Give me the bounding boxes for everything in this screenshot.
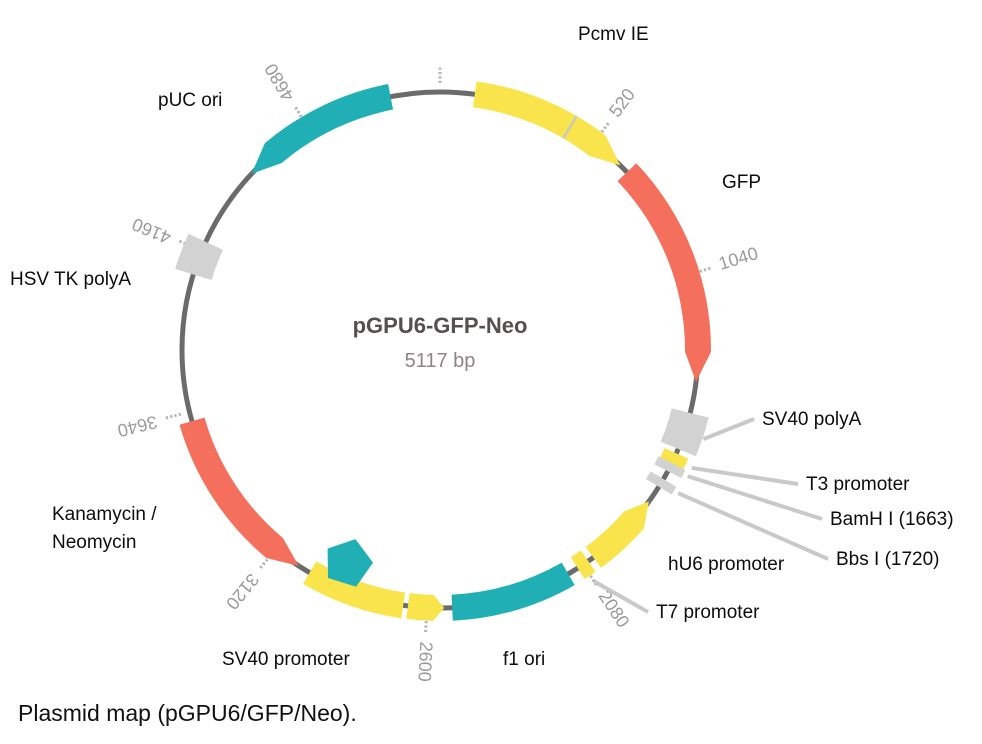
feature-label-pcmv-ie: Pcmv IE [578, 24, 649, 45]
feature-arc-gfp[interactable] [618, 163, 711, 382]
feature-label-kanamycin-neomycin: Kanamycin / [52, 504, 157, 525]
feature-arc-kanamycin-neomycin[interactable] [180, 418, 299, 566]
floating-feature-marker-pentagon[interactable] [328, 539, 373, 587]
feature-label-bbs-i-1720: Bbs I (1720) [836, 549, 940, 570]
plasmid-map-svg: 5201040208026003120364041604680 Pcmv IEG… [0, 0, 982, 744]
feature-label-bamh-i-1663: BamH I (1663) [830, 509, 954, 530]
feature-arc-bbs-i-1720[interactable] [648, 475, 674, 490]
tick-label-1040: 1040 [716, 243, 760, 274]
floating-marker-layer [328, 539, 373, 587]
plasmid-name: pGPU6-GFP-Neo [353, 313, 528, 338]
leader-line-bbs-i-1720 [678, 493, 828, 559]
feature-label-puc-ori: pUC ori [158, 90, 222, 111]
feature-arc-hsv-tk-polya[interactable] [175, 234, 223, 280]
feature-label-t3-promoter: T3 promoter [806, 474, 910, 495]
feature-arc-sv40-polya[interactable] [661, 408, 709, 456]
leader-line-bamh-i-1663 [688, 476, 822, 519]
feature-label-hsv-tk-polya: HSV TK polyA [10, 269, 131, 290]
feature-arc-f1-ori[interactable] [452, 563, 575, 621]
feature-label-hu6-promoter: hU6 promoter [668, 554, 785, 575]
feature-label-t7-promoter: T7 promoter [656, 602, 760, 623]
feature-label-sv40-polya: SV40 polyA [762, 409, 862, 430]
tick-label-2600: 2600 [414, 641, 436, 682]
feature-label-f1-ori: f1 ori [503, 649, 545, 670]
tick-mark-3640 [164, 414, 181, 418]
figure-caption: Plasmid map (pGPU6/GFP/Neo). [18, 700, 357, 727]
feature-label-sv40-promoter: SV40 promoter [222, 649, 350, 670]
feature-arc-puc-ori[interactable] [252, 84, 394, 174]
tick-label-3120: 3120 [222, 570, 263, 614]
feature-label-kanamycin-neomycin-line2: Neomycin [52, 532, 136, 553]
feature-label-gfp: GFP [722, 172, 761, 193]
feature-arc-pcmv-ie[interactable] [473, 81, 620, 165]
feature-label-layer: Pcmv IEGFPSV40 polyAT3 promoterBamH I (1… [10, 24, 954, 670]
tick-label-4160: 4160 [129, 214, 174, 248]
feature-arc-f1-ori-arrow[interactable] [406, 593, 444, 621]
leader-line-sv40-polya [703, 419, 754, 439]
tick-label-520: 520 [605, 85, 639, 121]
plasmid-map-figure: 5201040208026003120364041604680 Pcmv IEG… [0, 0, 982, 744]
feature-arc-hu6-promoter[interactable] [586, 501, 649, 568]
tick-label-4680: 4680 [261, 60, 299, 105]
tick-label-3640: 3640 [116, 412, 160, 441]
plasmid-length: 5117 bp [405, 350, 476, 372]
center-label-layer: pGPU6-GFP-Neo 5117 bp [353, 313, 528, 372]
